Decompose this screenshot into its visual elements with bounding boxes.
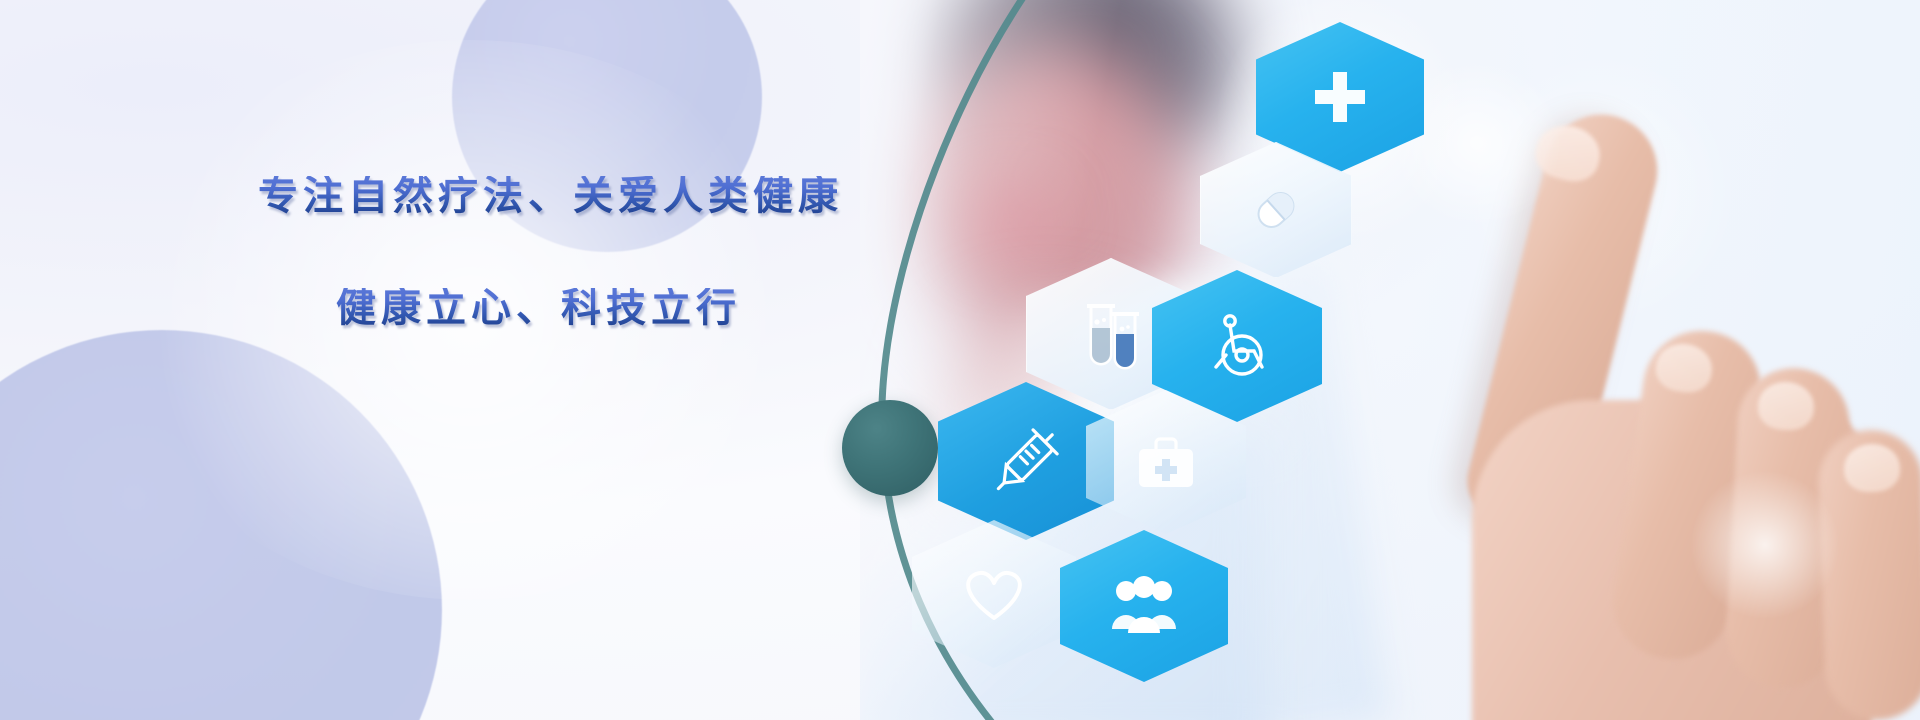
heart-icon[interactable] [912,520,1076,668]
headline-line-1: 专注自然疗法、关爱人类健康 [258,176,878,216]
headline-block: 专注自然疗法、关爱人类健康 健康立心、科技立行 [258,176,878,328]
headline-line-2: 健康立心、科技立行 [336,288,878,328]
people-group-icon[interactable] [1060,530,1228,682]
hexagon-icon-cluster [900,0,1520,720]
fingernail [1843,443,1901,493]
bokeh-highlight [1690,470,1840,620]
hero-banner: 专注自然疗法、关爱人类健康 健康立心、科技立行 [0,0,1920,720]
